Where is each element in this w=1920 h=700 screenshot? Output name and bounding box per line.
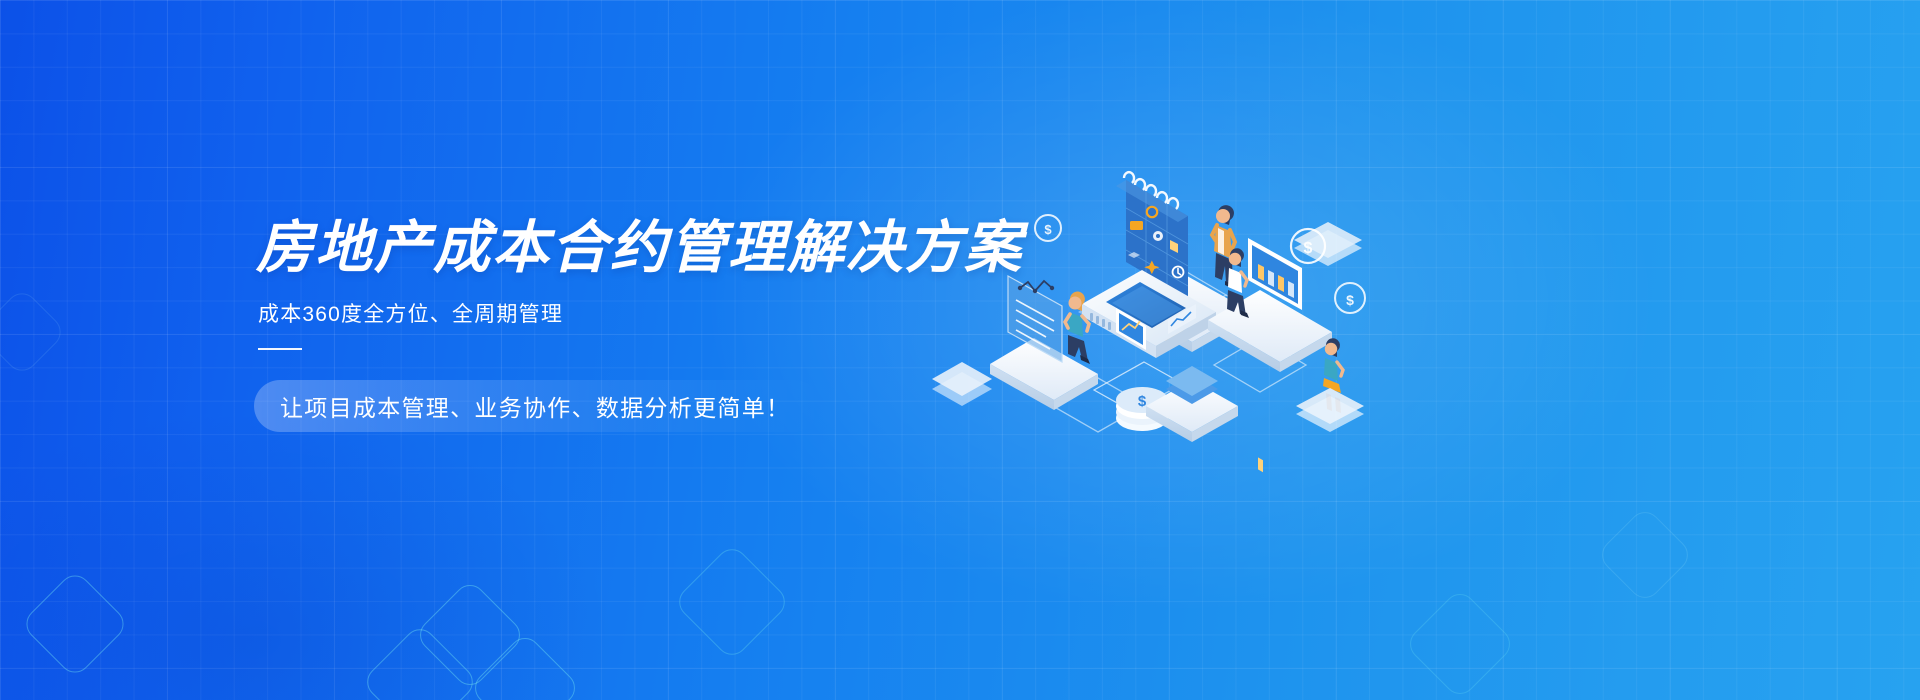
floating-card <box>1296 388 1364 432</box>
decorative-diamond-icon <box>1596 506 1695 605</box>
svg-text:$: $ <box>1346 292 1354 308</box>
decorative-diamond-icon <box>1403 587 1516 700</box>
tagline-pill: 让项目成本管理、业务协作、数据分析更简单！ <box>254 380 820 432</box>
svg-text:$: $ <box>1044 222 1052 237</box>
hero-banner: 房地产成本合约管理解决方案 成本360度全方位、全周期管理 让项目成本管理、业务… <box>0 0 1920 700</box>
tagline-text: 让项目成本管理、业务协作、数据分析更简单！ <box>280 389 790 423</box>
page-subtitle: 成本360度全方位、全周期管理 <box>258 298 563 328</box>
title-divider <box>258 348 302 350</box>
floating-card <box>932 362 992 406</box>
dollar-coin: $ <box>1035 215 1061 241</box>
svg-text:$: $ <box>1304 240 1313 257</box>
decorative-diamond-icon <box>20 569 130 679</box>
dollar-coin: $ <box>1335 283 1365 313</box>
svg-text:$: $ <box>1138 393 1147 410</box>
page-title: 房地产成本合约管理解决方案 <box>256 218 1023 280</box>
platform-tile <box>1146 366 1238 442</box>
hero-text-block: 房地产成本合约管理解决方案 成本360度全方位、全周期管理 让项目成本管理、业务… <box>256 0 1016 700</box>
hero-illustration: $ $ $ <box>930 150 1400 460</box>
decorative-diamond-icon <box>0 287 67 378</box>
